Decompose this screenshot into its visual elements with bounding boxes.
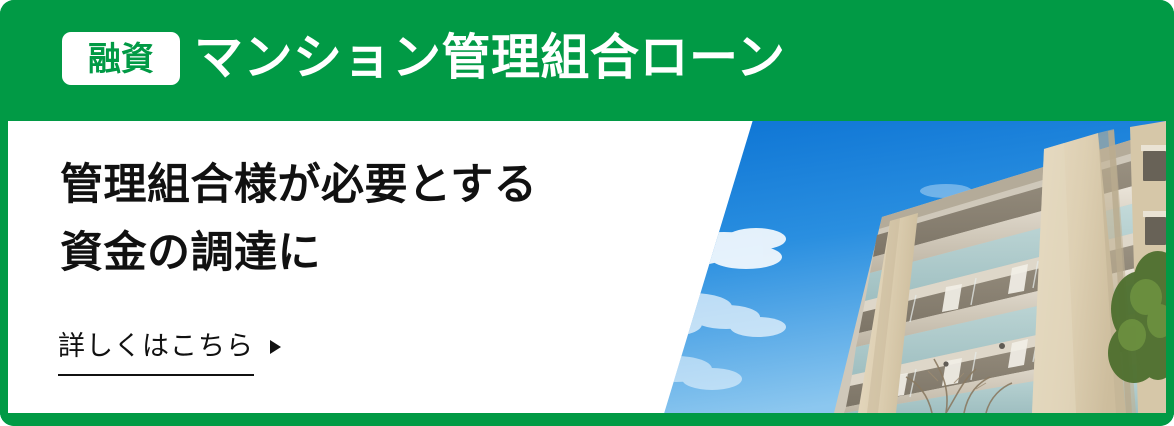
headline-line-1: 管理組合様が必要とする — [60, 151, 537, 219]
banner-header: 融資 マンション管理組合ローン — [0, 0, 1174, 121]
triangle-right-icon — [270, 340, 281, 354]
frame-edge-left — [0, 121, 8, 426]
headline-line-2: 資金の調達に — [60, 219, 537, 287]
category-badge-label: 融資 — [88, 42, 154, 75]
frame-edge-right — [1166, 121, 1174, 426]
category-badge: 融資 — [62, 32, 180, 85]
apartment-building-photo — [646, 121, 1166, 413]
details-link[interactable]: 詳しくはこちら — [58, 328, 281, 376]
details-link-label: 詳しくはこちら — [58, 328, 254, 376]
promo-banner[interactable]: 融資 マンション管理組合ローン 管理組合様が必要とする 資金の調達に 詳しくはこ… — [0, 0, 1174, 426]
banner-body: 管理組合様が必要とする 資金の調達に 詳しくはこちら — [8, 121, 1166, 413]
frame-edge-bottom — [0, 413, 1174, 426]
banner-title: マンション管理組合ローン — [194, 28, 786, 88]
headline: 管理組合様が必要とする 資金の調達に — [60, 151, 537, 287]
